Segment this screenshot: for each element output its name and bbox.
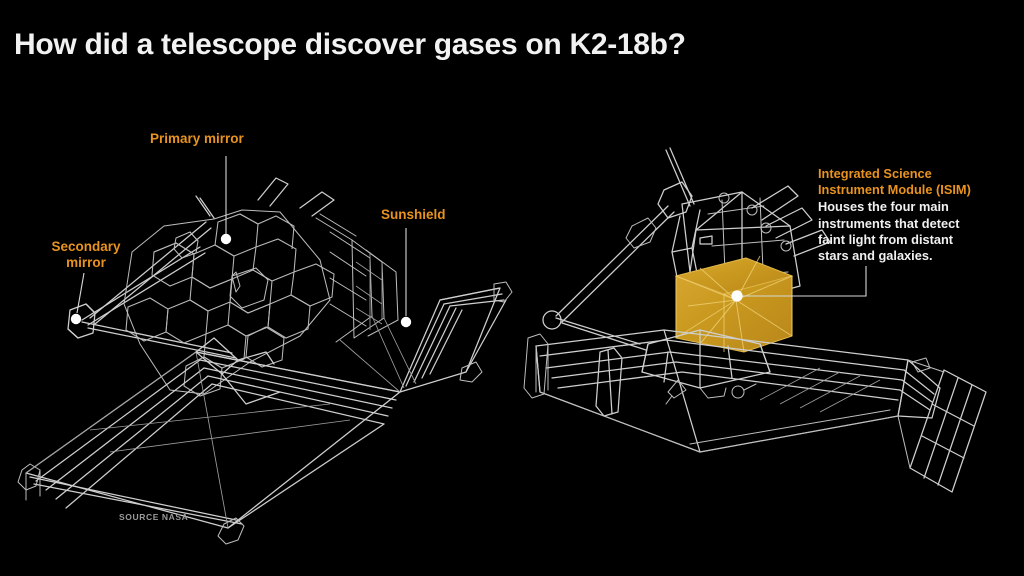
telescope-illustration: [0, 0, 1024, 576]
isim-body: Houses the four main instruments that de…: [818, 199, 1018, 264]
isim-annotation: Integrated Science Instrument Module (IS…: [818, 166, 1018, 264]
callout-label-sunshield: Sunshield: [381, 207, 446, 223]
isim-heading-line-2: Instrument Module (ISIM): [818, 182, 1018, 198]
jwst-left-model: [18, 178, 512, 544]
isim-heading-line-1: Integrated Science: [818, 166, 1018, 182]
isim-heading: Integrated Science Instrument Module (IS…: [818, 166, 1018, 197]
infographic-canvas: How did a telescope discover gases on K2…: [0, 0, 1024, 576]
callout-leaders: [71, 156, 866, 327]
isim-body-line-3: faint light from distant: [818, 232, 1018, 248]
isim-body-line-4: stars and galaxies.: [818, 248, 1018, 264]
callout-label-primary-mirror: Primary mirror: [150, 131, 244, 147]
isim-body-line-1: Houses the four main: [818, 199, 1018, 215]
leader-isim: [742, 266, 866, 296]
callout-label-secondary-mirror: Secondary mirror: [40, 239, 132, 271]
page-title: How did a telescope discover gases on K2…: [14, 28, 686, 62]
left-sunshield: [26, 352, 400, 528]
right-sunshield: [536, 330, 908, 452]
dot-secondary-mirror: [71, 314, 81, 324]
solar-array: [910, 370, 986, 492]
primary-mirror-segments: [126, 214, 334, 396]
source-credit: SOURCE NASA: [119, 512, 188, 522]
leader-secondary-mirror: [77, 273, 84, 313]
isim-gold-box: [676, 256, 792, 352]
isim-body-line-2: instruments that detect: [818, 216, 1018, 232]
dot-sunshield: [401, 317, 411, 327]
dot-isim: [731, 290, 742, 301]
dot-primary-mirror: [221, 234, 231, 244]
